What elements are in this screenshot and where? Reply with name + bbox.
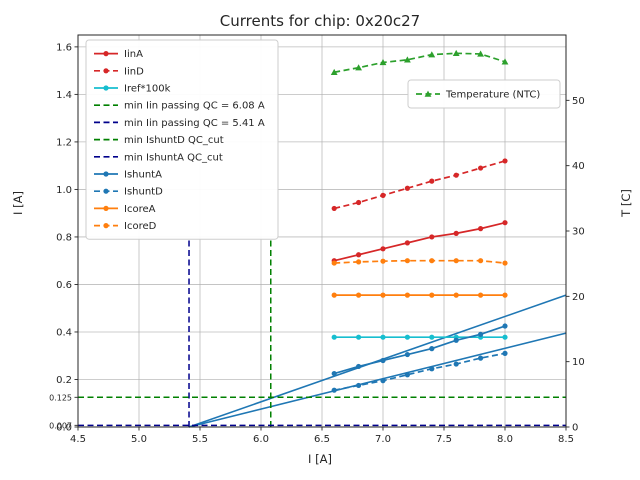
series-marker-IcoreD <box>356 259 361 264</box>
legend-main-swatch-marker <box>103 51 108 56</box>
x-tick-label: 4.5 <box>70 434 86 445</box>
series-marker-IinA <box>502 220 507 225</box>
series-marker-IshuntD <box>405 372 410 377</box>
series-marker-IcoreD <box>478 258 483 263</box>
series-marker-IcoreA <box>429 293 434 298</box>
series-marker-IcoreA <box>454 293 459 298</box>
series-marker-IcoreA <box>405 293 410 298</box>
series-marker-IcoreD <box>429 258 434 263</box>
legend-main-swatch-marker <box>103 85 108 90</box>
series-marker-IshuntD <box>502 351 507 356</box>
y2-tick-label: 0 <box>572 423 578 434</box>
series-marker-IinA <box>405 240 410 245</box>
series-marker-IshuntD <box>380 378 385 383</box>
y2-tick-label: 20 <box>572 292 585 303</box>
series-marker-IshuntD <box>454 361 459 366</box>
series-marker-IshuntA <box>356 364 361 369</box>
legend-main-label[interactable]: IinD <box>124 66 144 77</box>
series-marker-IshuntA <box>380 358 385 363</box>
legend-main-swatch-marker <box>103 223 108 228</box>
legend-main-label[interactable]: min Iin passing QC = 6.08 A <box>124 101 265 112</box>
series-marker-IcoreA <box>332 293 337 298</box>
series-marker-IcoreA <box>502 293 507 298</box>
legend-main-label[interactable]: min IshuntA QC_cut <box>124 152 223 163</box>
series-marker-Iref*100k <box>502 335 507 340</box>
plot-canvas: 4.55.05.56.06.57.07.58.08.50.00.20.40.60… <box>0 0 640 480</box>
legend-main-label[interactable]: IcoreD <box>124 221 157 232</box>
series-marker-IcoreD <box>454 258 459 263</box>
series-marker-IshuntA <box>429 346 434 351</box>
x-tick-label: 5.5 <box>192 434 208 445</box>
legend-main-swatch-marker <box>103 68 108 73</box>
series-marker-IinD <box>356 200 361 205</box>
y2-tick-label: 30 <box>572 227 585 238</box>
series-marker-IinD <box>332 206 337 211</box>
y-tick-label: 0.8 <box>56 232 72 243</box>
series-marker-IcoreA <box>380 293 385 298</box>
series-marker-IinA <box>454 231 459 236</box>
legend-main-swatch-marker <box>103 171 108 176</box>
series-marker-IshuntD <box>429 366 434 371</box>
y2-tick-label: 10 <box>572 357 585 368</box>
series-marker-IshuntA <box>332 371 337 376</box>
series-marker-IcoreD <box>405 258 410 263</box>
y-tick-label: 0.6 <box>56 280 72 291</box>
series-marker-IshuntA <box>502 323 507 328</box>
legend-main-label[interactable]: IinA <box>124 49 143 60</box>
series-marker-IcoreA <box>478 293 483 298</box>
legend-main-label[interactable]: min IshuntD QC_cut <box>124 135 224 146</box>
series-marker-IinD <box>478 165 483 170</box>
x-tick-label: 5.0 <box>131 434 147 445</box>
y-tick-label: 1.6 <box>56 42 72 53</box>
series-marker-IinD <box>502 158 507 163</box>
x-tick-label: 6.0 <box>253 434 269 445</box>
y-tick-label: 1.0 <box>56 185 72 196</box>
series-marker-IinA <box>429 234 434 239</box>
figure: Currents for chip: 0x20c27 I [A] I [A] T… <box>0 0 640 480</box>
series-marker-IshuntA <box>478 332 483 337</box>
y2-tick-label: 40 <box>572 161 585 172</box>
series-marker-Iref*100k <box>356 335 361 340</box>
y-tick-label: 1.2 <box>56 137 72 148</box>
series-marker-IshuntD <box>356 383 361 388</box>
x-tick-label: 6.5 <box>314 434 330 445</box>
y2-tick-label: 50 <box>572 96 585 107</box>
legend-main-label[interactable]: IshuntA <box>124 170 162 181</box>
x-tick-label: 8.5 <box>558 434 574 445</box>
y-tick-label: 0.4 <box>56 327 72 338</box>
series-marker-IcoreD <box>502 260 507 265</box>
series-marker-IinD <box>454 173 459 178</box>
series-marker-IinD <box>405 186 410 191</box>
legend-main-label[interactable]: IshuntD <box>124 187 163 198</box>
legend-main-label[interactable]: min Iin passing QC = 5.41 A <box>124 118 265 129</box>
series-marker-Iref*100k <box>405 335 410 340</box>
y-tick-extra-label: 0.007 <box>49 421 72 430</box>
series-marker-Iref*100k <box>332 335 337 340</box>
series-marker-Iref*100k <box>380 335 385 340</box>
series-marker-IinA <box>478 226 483 231</box>
legend-main-swatch-marker <box>103 189 108 194</box>
y-tick-label: 1.4 <box>56 90 72 101</box>
x-tick-label: 8.0 <box>497 434 513 445</box>
series-marker-IinD <box>380 193 385 198</box>
x-tick-label: 7.5 <box>436 434 452 445</box>
series-marker-IshuntA <box>454 338 459 343</box>
series-marker-IinA <box>380 246 385 251</box>
series-marker-IshuntD <box>478 356 483 361</box>
legend-main-label[interactable]: Iref*100k <box>124 84 171 95</box>
series-marker-IshuntD <box>332 388 337 393</box>
series-marker-IshuntA <box>405 352 410 357</box>
series-marker-IcoreD <box>332 260 337 265</box>
legend-main-label[interactable]: IcoreA <box>124 204 156 215</box>
series-marker-IcoreD <box>380 259 385 264</box>
series-marker-Iref*100k <box>429 335 434 340</box>
y-tick-extra-label: 0.125 <box>49 393 72 402</box>
legend-main-swatch-marker <box>103 206 108 211</box>
legend-temperature-label[interactable]: Temperature (NTC) <box>445 90 540 101</box>
x-tick-label: 7.0 <box>375 434 391 445</box>
series-marker-IinD <box>429 179 434 184</box>
series-marker-IcoreA <box>356 293 361 298</box>
series-marker-IinA <box>356 252 361 257</box>
y-tick-label: 0.2 <box>56 375 72 386</box>
